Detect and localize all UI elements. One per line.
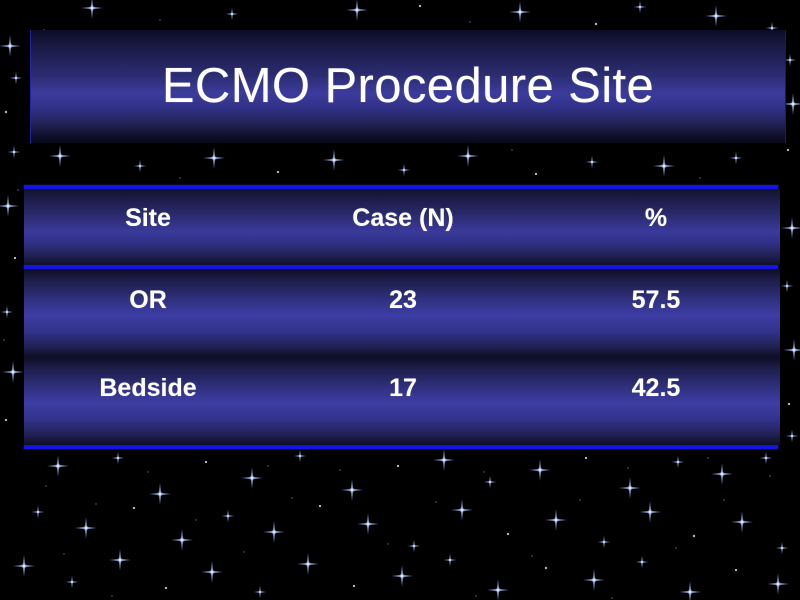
table-row: OR 23 57.5 (24, 269, 780, 357)
slide: ECMO Procedure Site Site Case (N) % OR 2… (0, 0, 800, 600)
data-table: Site Case (N) % OR 23 57.5 Bedside 17 42… (24, 185, 782, 449)
title-panel: ECMO Procedure Site (30, 30, 786, 143)
table-row: Bedside 17 42.5 (24, 357, 780, 445)
cell-cases-bedside: 17 (303, 357, 503, 464)
cell-site-bedside: Bedside (48, 357, 248, 464)
cell-percent-bedside: 42.5 (556, 357, 756, 464)
page-title: ECMO Procedure Site (162, 62, 654, 111)
table-header-row: Site Case (N) % (24, 189, 780, 265)
